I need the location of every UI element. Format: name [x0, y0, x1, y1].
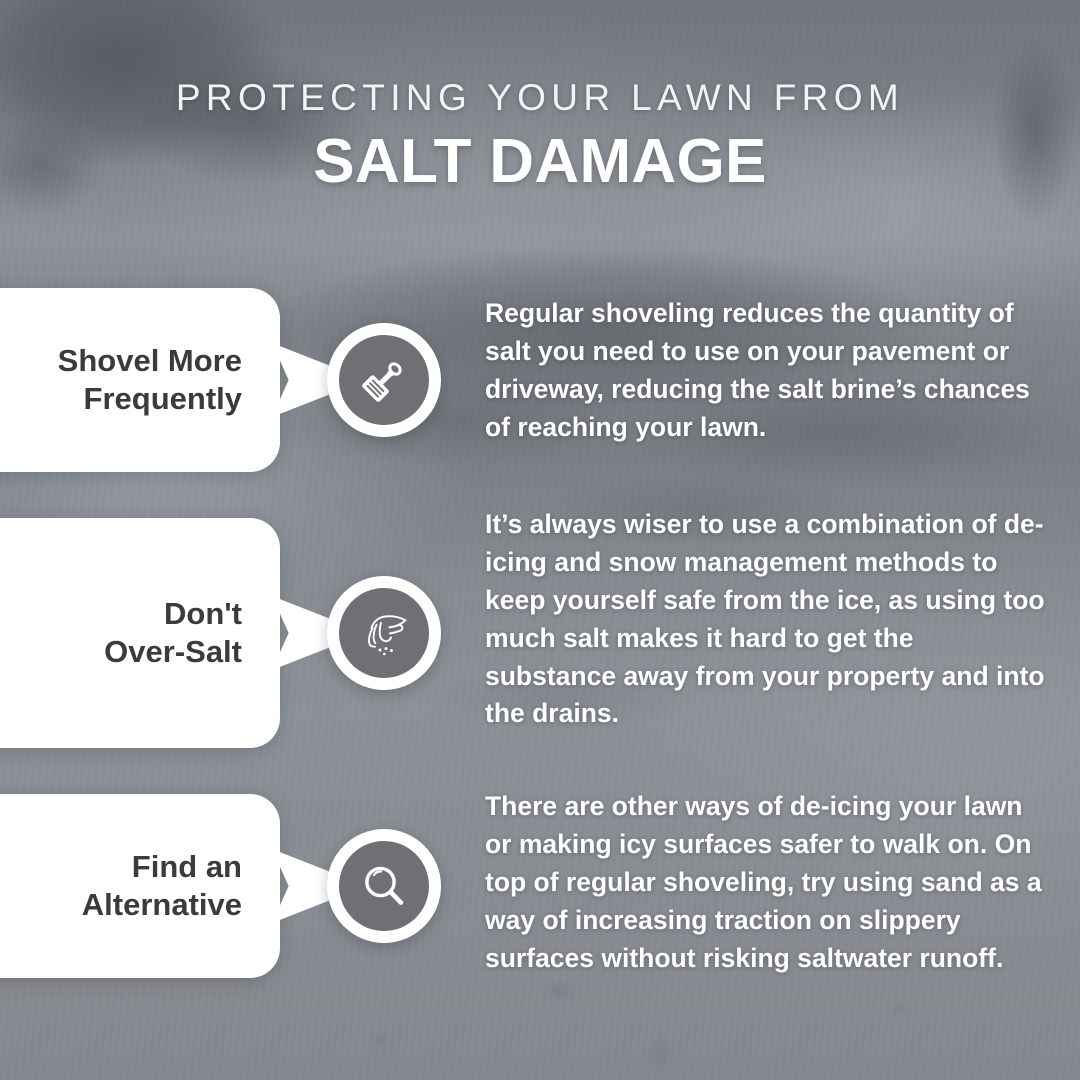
tip-label-card[interactable]: Don't Over-Salt [0, 518, 280, 748]
tip-body: It’s always wiser to use a combination o… [485, 506, 1045, 733]
tip-body: Regular shoveling reduces the quantity o… [485, 295, 1045, 447]
tip-label: Don't Over-Salt [104, 595, 242, 671]
tip-icon-badge[interactable] [327, 576, 441, 690]
tip-icon-badge[interactable] [327, 323, 441, 437]
tips-list: Shovel More Frequently [0, 288, 1080, 978]
tip-label-card[interactable]: Shovel More Frequently [0, 288, 280, 472]
hand-sprinkling-salt-icon [339, 588, 429, 678]
tip-row: Find an Alternative There are other ways… [0, 794, 1080, 978]
page-title: SALT DAMAGE [0, 129, 1080, 196]
tip-body: There are other ways of de-icing your la… [485, 788, 1045, 977]
shovel-icon [339, 335, 429, 425]
tip-icon-badge[interactable] [327, 829, 441, 943]
magnifying-glass-icon [339, 841, 429, 931]
tip-row: Don't Over-Salt [0, 518, 1080, 748]
tip-row: Shovel More Frequently [0, 288, 1080, 472]
header-eyebrow: PROTECTING YOUR LAWN FROM [0, 78, 1080, 119]
tip-label-card[interactable]: Find an Alternative [0, 794, 280, 978]
poster-header: PROTECTING YOUR LAWN FROM SALT DAMAGE [0, 78, 1080, 196]
tip-label: Find an Alternative [82, 848, 242, 924]
infographic-poster: PROTECTING YOUR LAWN FROM SALT DAMAGE Sh… [0, 0, 1080, 1080]
tip-label: Shovel More Frequently [58, 342, 242, 418]
